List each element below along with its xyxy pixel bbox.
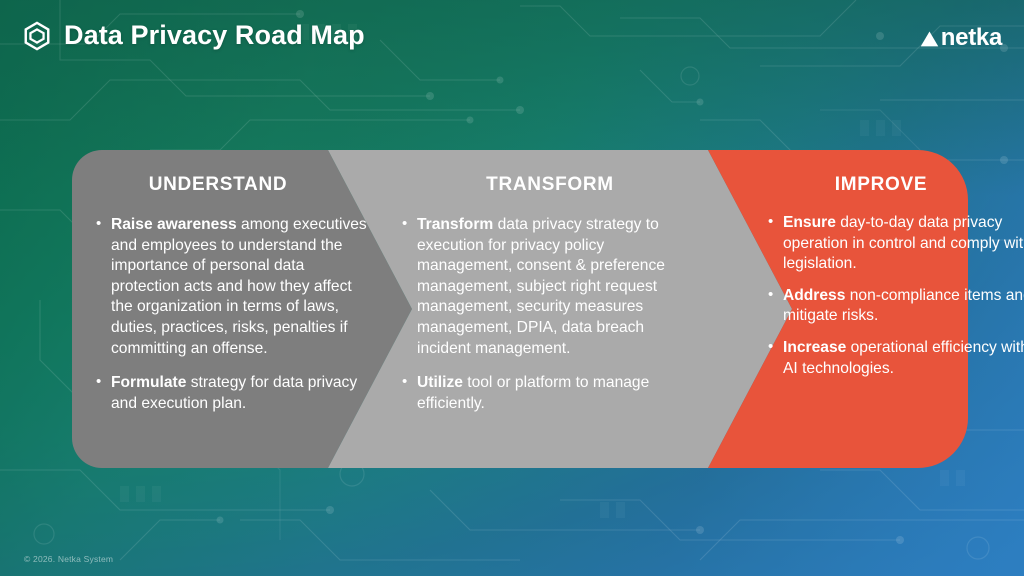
delta-triangle-icon [919,28,940,49]
stage-heading-transform: TRANSFORM [400,150,700,196]
list-item: Address non-compliance items and mitigat… [766,286,1024,327]
copyright-notice: © 2026. Netka System [24,554,113,564]
roadmap-diagram: UNDERSTAND Raise awareness among executi… [72,150,968,468]
page-header: Data Privacy Road Map netka [0,0,1024,90]
page-title: Data Privacy Road Map [64,20,365,51]
bullet-lead: Utilize [417,374,463,391]
title-block: Data Privacy Road Map [22,20,365,51]
list-item: Ensure day-to-day data privacy operation… [766,213,1024,275]
list-item: Utilize tool or platform to manage effic… [400,373,690,414]
stage-content-transform: TRANSFORM Transform data privacy strateg… [400,150,730,468]
bullet-lead: Raise awareness [111,216,237,233]
bullet-lead: Address [783,287,845,304]
bullet-lead: Ensure [783,214,836,231]
hexagon-target-icon [22,21,52,51]
stage-heading-understand: UNDERSTAND [94,150,342,196]
brand-logo: netka [919,24,1002,52]
stage-content-improve: IMPROVE Ensure day-to-day data privacy o… [766,150,1024,468]
list-item: Increase operational efficiency with AI … [766,338,1024,379]
stage-bullets-improve: Ensure day-to-day data privacy operation… [766,213,1024,379]
bullet-rest: data privacy strategy to execution for p… [417,216,665,357]
list-item: Transform data privacy strategy to execu… [400,215,690,359]
bullet-lead: Transform [417,216,493,233]
bullet-lead: Increase [783,339,846,356]
brand-name: netka [941,24,1002,52]
roadmap-stage-improve[interactable]: IMPROVE Ensure day-to-day data privacy o… [708,150,968,468]
stage-heading-improve: IMPROVE [766,150,996,196]
stage-bullets-transform: Transform data privacy strategy to execu… [400,215,690,414]
bullet-lead: Formulate [111,374,186,391]
